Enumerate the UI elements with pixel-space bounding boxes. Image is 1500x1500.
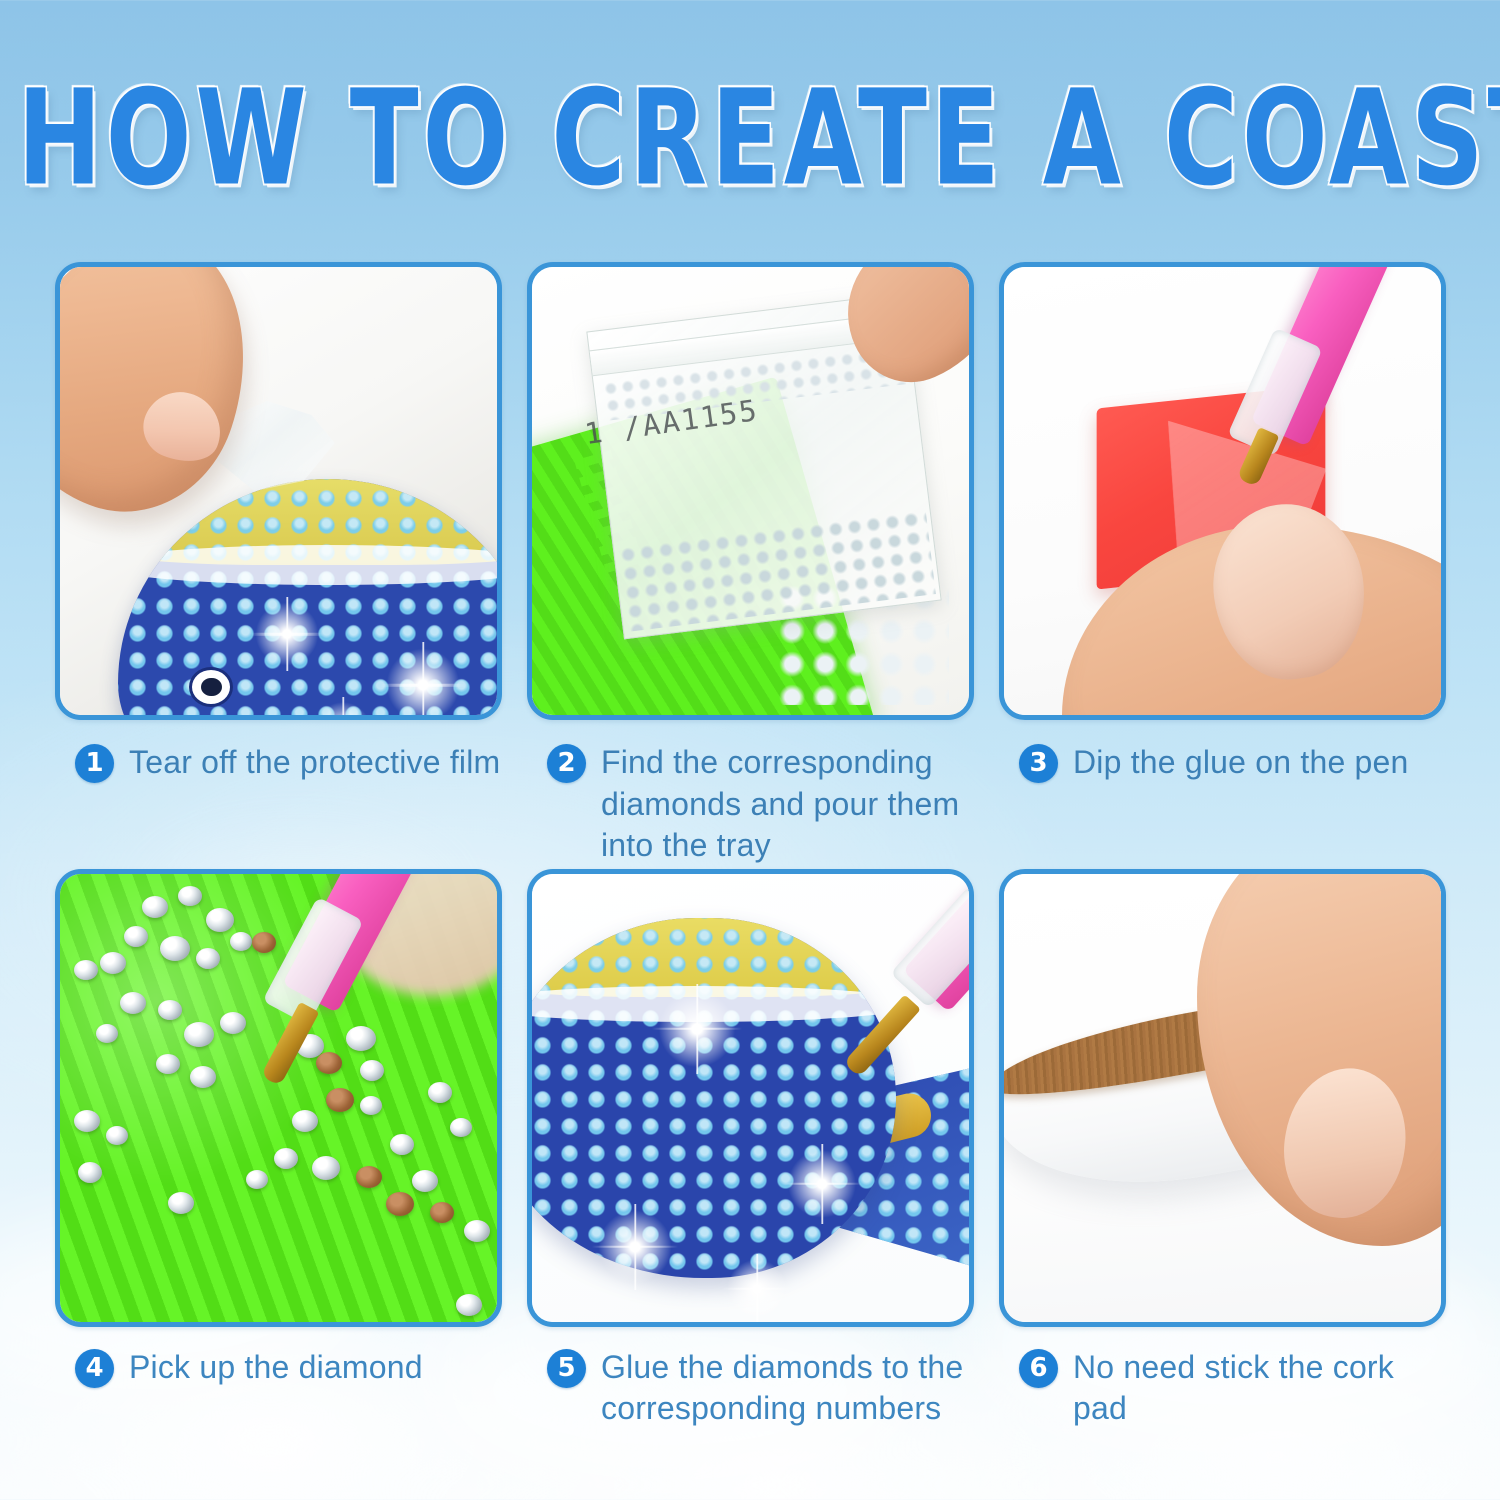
fish-coaster xyxy=(118,479,497,715)
photo-glue-diamonds-to-numbers[interactable] xyxy=(527,869,974,1327)
fish-coaster xyxy=(532,918,896,1278)
step-5: 5 Glue the diamonds to the corresponding… xyxy=(527,869,974,1430)
step-badge-2: 2 xyxy=(547,744,586,783)
step-badge-3: 3 xyxy=(1019,744,1058,783)
photo-cork-pad[interactable] xyxy=(999,869,1446,1327)
coaster-diamond-dots xyxy=(532,918,896,1278)
step-6: 6 No need stick the cork pad xyxy=(999,869,1446,1430)
photo-dip-glue-on-pen[interactable] xyxy=(999,262,1446,720)
step-3-caption: 3 Dip the glue on the pen xyxy=(999,742,1446,784)
step-4: 4 Pick up the diamond xyxy=(55,869,502,1430)
photo-peel-protective-film[interactable] xyxy=(55,262,502,720)
step-4-caption: 4 Pick up the diamond xyxy=(55,1347,502,1389)
step-2-caption: 2 Find the corresponding diamonds and po… xyxy=(527,742,974,867)
step-6-text: No need stick the cork pad xyxy=(1073,1347,1446,1430)
step-4-text: Pick up the diamond xyxy=(129,1347,423,1389)
photo-pick-up-diamond[interactable] xyxy=(55,869,502,1327)
step-2: 1 /AA1155 2 Find the corresponding diamo… xyxy=(527,262,974,867)
step-badge-1: 1 xyxy=(75,744,114,783)
step-1-text: Tear off the protective film xyxy=(129,742,500,784)
step-5-caption: 5 Glue the diamonds to the corresponding… xyxy=(527,1347,974,1430)
page-title-wrap: HOW TO CREATE A COASTER xyxy=(0,76,1500,175)
page-title: HOW TO CREATE A COASTER xyxy=(17,76,1500,203)
steps-grid: 1 Tear off the protective film 1 /AA1155… xyxy=(55,262,1445,1430)
coaster-white-band xyxy=(118,545,497,585)
step-badge-4: 4 xyxy=(75,1349,114,1388)
step-1-caption: 1 Tear off the protective film xyxy=(55,742,502,784)
step-3-text: Dip the glue on the pen xyxy=(1073,742,1409,784)
step-5-text: Glue the diamonds to the corresponding n… xyxy=(601,1347,974,1430)
coaster-diamond-dots xyxy=(118,479,497,715)
step-badge-6: 6 xyxy=(1019,1349,1058,1388)
step-3: 3 Dip the glue on the pen xyxy=(999,262,1446,867)
step-1: 1 Tear off the protective film xyxy=(55,262,502,867)
step-2-text: Find the corresponding diamonds and pour… xyxy=(601,742,974,867)
coaster-white-band xyxy=(532,986,896,1022)
photo-pour-diamonds-into-tray[interactable]: 1 /AA1155 xyxy=(527,262,974,720)
step-badge-5: 5 xyxy=(547,1349,586,1388)
step-6-caption: 6 No need stick the cork pad xyxy=(999,1347,1446,1430)
